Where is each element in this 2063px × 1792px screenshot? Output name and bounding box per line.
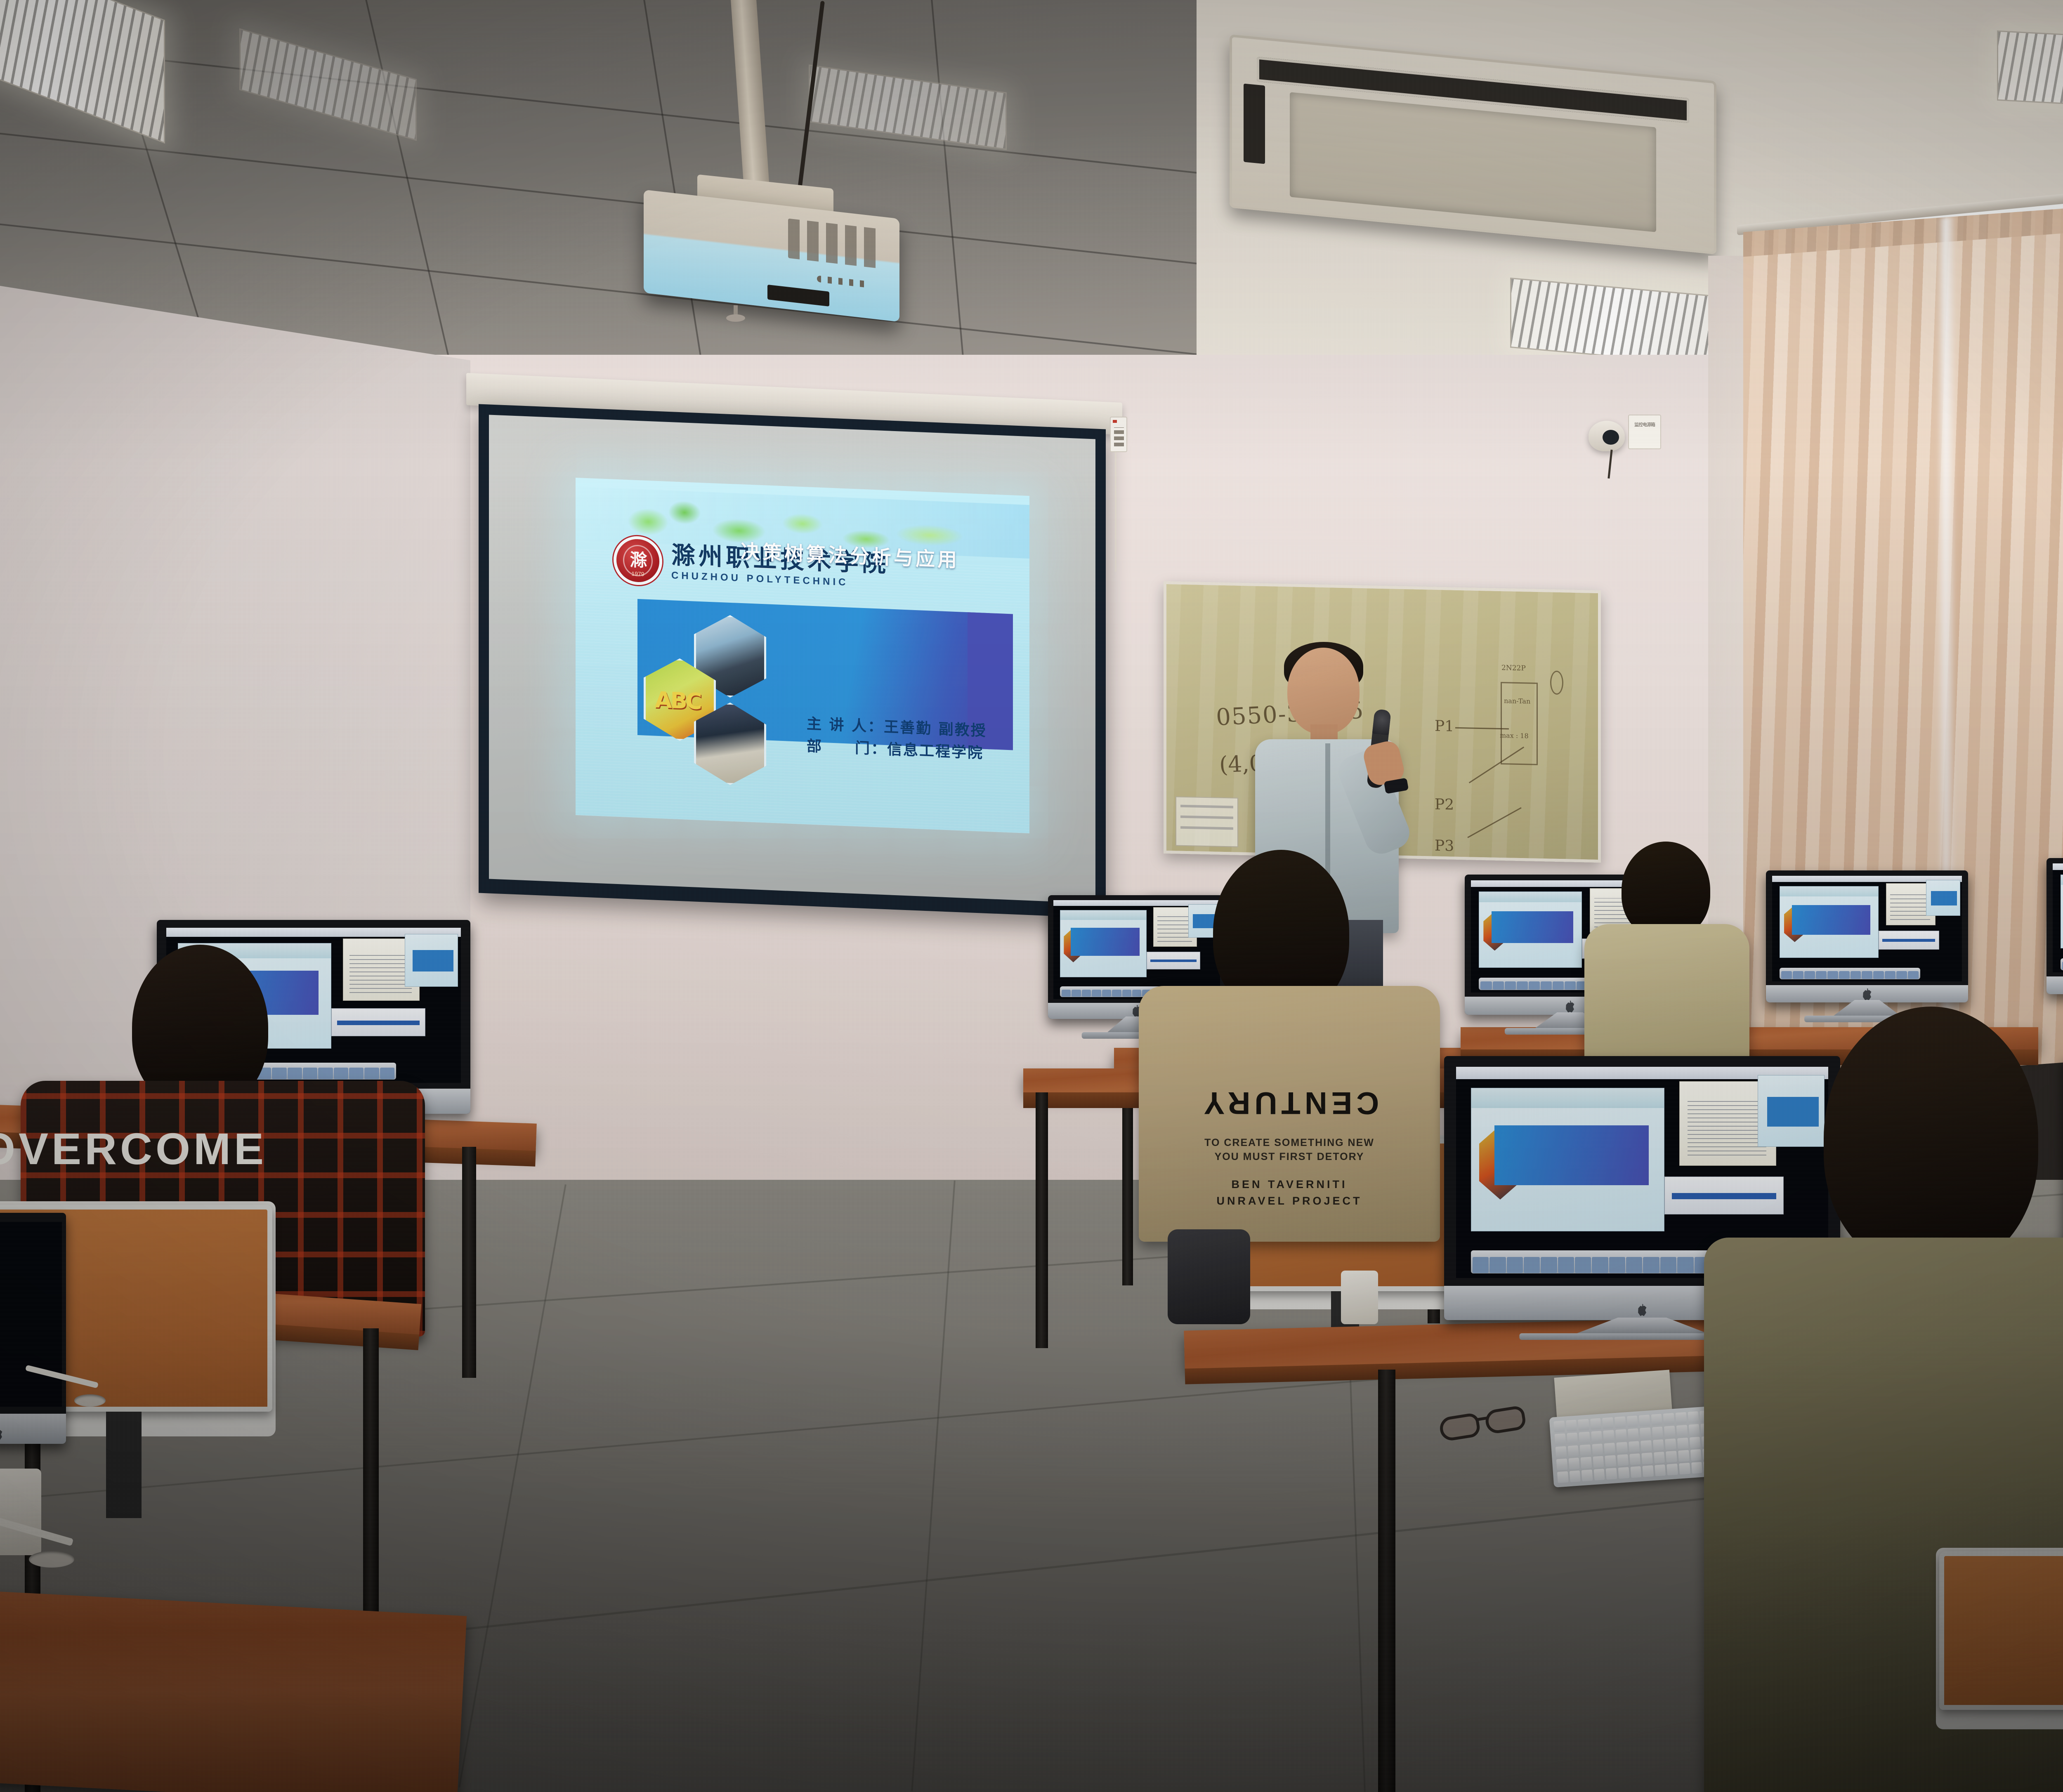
imac-left-2[interactable] (0, 1213, 66, 1444)
desk-leg (1036, 1092, 1048, 1348)
desk-foreground-left (0, 1585, 467, 1792)
shirt-brand-big: CENTURY (1139, 1085, 1440, 1121)
slide-hexagon-photos: ABC (644, 612, 792, 795)
student-body: CENTURY TO CREATE SOMETHING NEW YOU MUST… (1139, 986, 1440, 1242)
macos-dock[interactable] (2061, 958, 2063, 970)
whiteboard-oval-sketch (1550, 671, 1563, 695)
shirt-tagline-2: YOU MUST FIRST DETORY (1139, 1151, 1440, 1163)
chair-bottom-right[interactable] (1939, 1551, 2063, 1792)
whiteboard-posted-card (1175, 797, 1238, 847)
imac-display (0, 1213, 66, 1444)
whiteboard-p1: P1 (1435, 718, 1454, 735)
cable-grommet (74, 1394, 106, 1407)
macos-dock[interactable] (1780, 968, 1920, 979)
whiteboard-note-1: nan-Tan (1504, 697, 1530, 705)
screen-control-cord (1115, 452, 1116, 572)
overcome-text: OVERCOME (0, 1123, 267, 1174)
student-head (1824, 1007, 2038, 1271)
fire-sprinkler-icon (726, 305, 745, 323)
shirt-brand-line-1: BEN TAVERNITI (1139, 1178, 1440, 1191)
crest-year: 1979 (616, 570, 659, 578)
whiteboard-p2: P2 (1435, 796, 1454, 813)
imac-display (2046, 858, 2063, 994)
whiteboard-box-sketch (1501, 682, 1538, 765)
desk-leg (1378, 1370, 1395, 1792)
shirt-tagline-1: TO CREATE SOMETHING NEW (1139, 1137, 1440, 1149)
desk-speaker (1341, 1271, 1378, 1324)
backpack (1168, 1229, 1250, 1324)
slide-footer-info: 主 讲 人：王善勤 副教授 部 门：信息工程学院 (807, 713, 987, 765)
cable-grommet (29, 1551, 74, 1568)
whiteboard-box-label: 2N22P (1501, 664, 1526, 672)
camera-power-box: 监控电源箱 (1628, 415, 1661, 449)
classroom-photo: 滁 1979 滁州职业技术学院 CHUZHOU POLYTECHNIC 决策树算… (0, 0, 2063, 1792)
imac-back-4[interactable] (2046, 858, 2063, 994)
presenter-head (1287, 648, 1360, 734)
abc-blocks-label: ABC (655, 687, 701, 714)
crest-glyph: 滁 (616, 551, 659, 570)
imac-display (1766, 870, 1968, 1002)
surveillance-camera-icon (1589, 421, 1625, 451)
whiteboard-note-2: max : 18 (1500, 731, 1529, 740)
imac-desktop (0, 1222, 62, 1407)
desk-leg (462, 1147, 476, 1378)
student-center: CENTURY TO CREATE SOMETHING NEW YOU MUST… (1131, 850, 1444, 1229)
school-crest-icon: 滁 1979 (614, 535, 662, 586)
screen-control-switch[interactable] (1110, 417, 1127, 452)
imac-back-3[interactable] (1766, 870, 1968, 1002)
imac-desktop (2053, 863, 2063, 972)
imac-desktop (1772, 876, 1962, 981)
camera-box-label: 监控电源箱 (1629, 421, 1660, 428)
projected-slide: 滁 1979 滁州职业技术学院 CHUZHOU POLYTECHNIC 决策树算… (576, 478, 1029, 833)
shirt-brand-line-2: UNRAVEL PROJECT (1139, 1195, 1440, 1207)
desk-speaker (0, 1469, 41, 1555)
